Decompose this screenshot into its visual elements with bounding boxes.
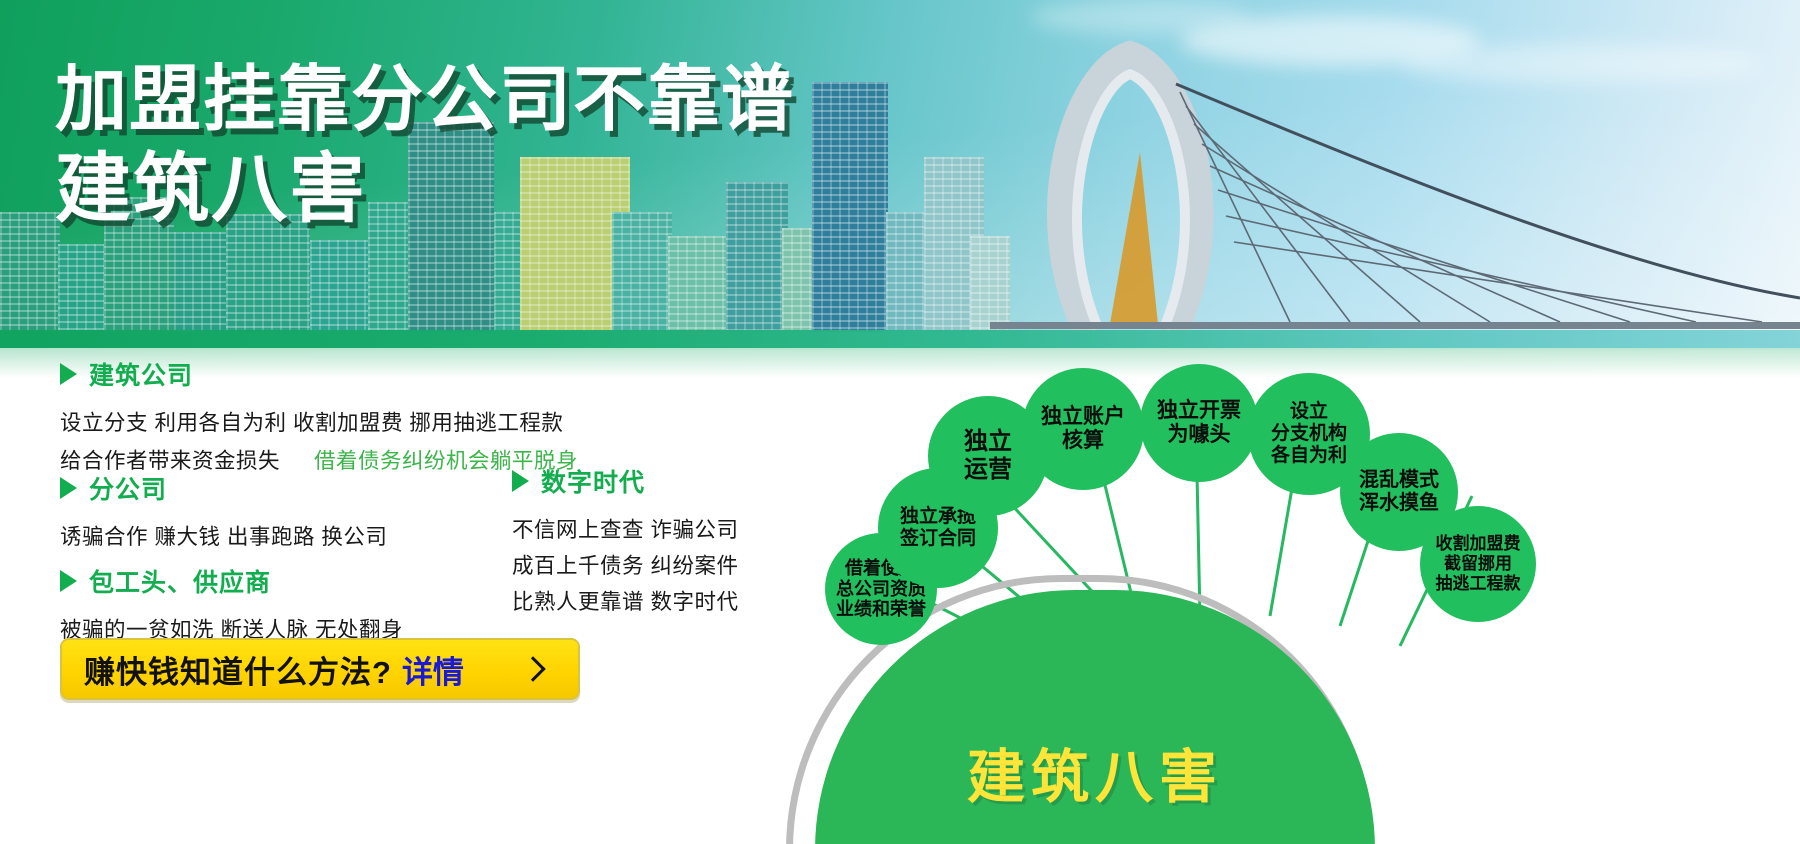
bubble-text: 混乱模式浑水摸鱼 [1355, 469, 1443, 515]
bubble-text: 独立开票为噱头 [1153, 399, 1245, 448]
building [812, 82, 888, 332]
section-body: 诱骗合作 赚大钱 出事跑路 换公司 [60, 520, 387, 551]
body-line: 诱骗合作 赚大钱 出事跑路 换公司 [60, 520, 387, 551]
section-header: 包工头、供应商 [60, 563, 403, 599]
triangle-bullet-icon [60, 363, 77, 385]
triangle-bullet-icon [60, 570, 77, 592]
bubble-text: 独立账户核算 [1037, 405, 1129, 454]
section-construction-company: 建筑公司 设立分支 利用各自为利 收割加盟费 挪用抽逃工程款 给合作者带来资金损… [60, 356, 578, 482]
headline-line-2: 建筑八害 [55, 150, 795, 231]
body-line: 设立分支 利用各自为利 收割加盟费 挪用抽逃工程款 [60, 406, 578, 437]
building [174, 232, 226, 332]
ground-strip [0, 330, 1800, 350]
cta-detail-link[interactable]: 详情 [402, 647, 464, 692]
section-title: 分公司 [89, 470, 167, 506]
section-title: 数字时代 [541, 463, 645, 499]
hero-banner: 加盟挂靠分公司不靠谱 建筑八害 [0, 0, 1800, 378]
bubble-diagram: 建筑八害 借着使用总公司资质业绩和荣誉 独立承揽签订合同 独立运营 独立账户核算… [800, 378, 1800, 844]
section-branch-company: 分公司 诱骗合作 赚大钱 出事跑路 换公司 [60, 470, 387, 551]
bubble-text: 设立分支机构各自为利 [1267, 401, 1351, 467]
cta-button[interactable]: 赚快钱知道什么方法? 详情 [60, 638, 580, 700]
bubble-harvest-fees[interactable]: 收割加盟费截留挪用抽逃工程款 [1420, 506, 1536, 622]
section-body: 设立分支 利用各自为利 收割加盟费 挪用抽逃工程款 给合作者带来资金损失 借着债… [60, 406, 578, 475]
section-header: 分公司 [60, 470, 387, 506]
headline-line-1: 加盟挂靠分公司不靠谱 [55, 62, 795, 138]
bubble-text: 独立运营 [960, 428, 1016, 484]
body-line: 比熟人更靠谱 数字时代 [512, 585, 738, 616]
poster-root: 加盟挂靠分公司不靠谱 建筑八害 建筑公司 设立分支 利用各自为利 收割加盟费 挪… [0, 0, 1800, 844]
dome-label: 建筑八害 [815, 730, 1375, 814]
building [58, 244, 104, 332]
section-header: 数字时代 [512, 463, 738, 499]
chevron-right-icon [520, 656, 545, 681]
left-content: 建筑公司 设立分支 利用各自为利 收割加盟费 挪用抽逃工程款 给合作者带来资金损… [0, 378, 820, 844]
bubble-independent-account[interactable]: 独立账户核算 [1022, 368, 1144, 490]
building [0, 212, 60, 332]
building [310, 240, 368, 332]
bubble-text: 收割加盟费截留挪用抽逃工程款 [1432, 534, 1525, 593]
section-title: 包工头、供应商 [89, 563, 271, 599]
triangle-bullet-icon [512, 470, 529, 492]
bridge-illustration [990, 32, 1800, 332]
section-digital-era: 数字时代 不信网上查查 诈骗公司 成百上千债务 纠纷案件 比熟人更靠谱 数字时代 [512, 463, 738, 621]
section-body: 不信网上查查 诈骗公司 成百上千债务 纠纷案件 比熟人更靠谱 数字时代 [512, 513, 738, 616]
bubble-independent-invoice[interactable]: 独立开票为噱头 [1140, 364, 1258, 482]
section-contractor-supplier: 包工头、供应商 被骗的一贫如洗 断送人脉 无处翻身 [60, 563, 403, 644]
body-line: 不信网上查查 诈骗公司 [512, 513, 738, 544]
body-line: 成百上千债务 纠纷案件 [512, 549, 738, 580]
section-header: 建筑公司 [60, 356, 578, 392]
triangle-bullet-icon [60, 477, 77, 499]
cloud-decoration [1030, 0, 1250, 34]
building [668, 236, 734, 332]
section-title: 建筑公司 [89, 356, 193, 392]
page-title: 加盟挂靠分公司不靠谱 建筑八害 [55, 62, 795, 231]
cta-label: 赚快钱知道什么方法? [84, 647, 392, 692]
